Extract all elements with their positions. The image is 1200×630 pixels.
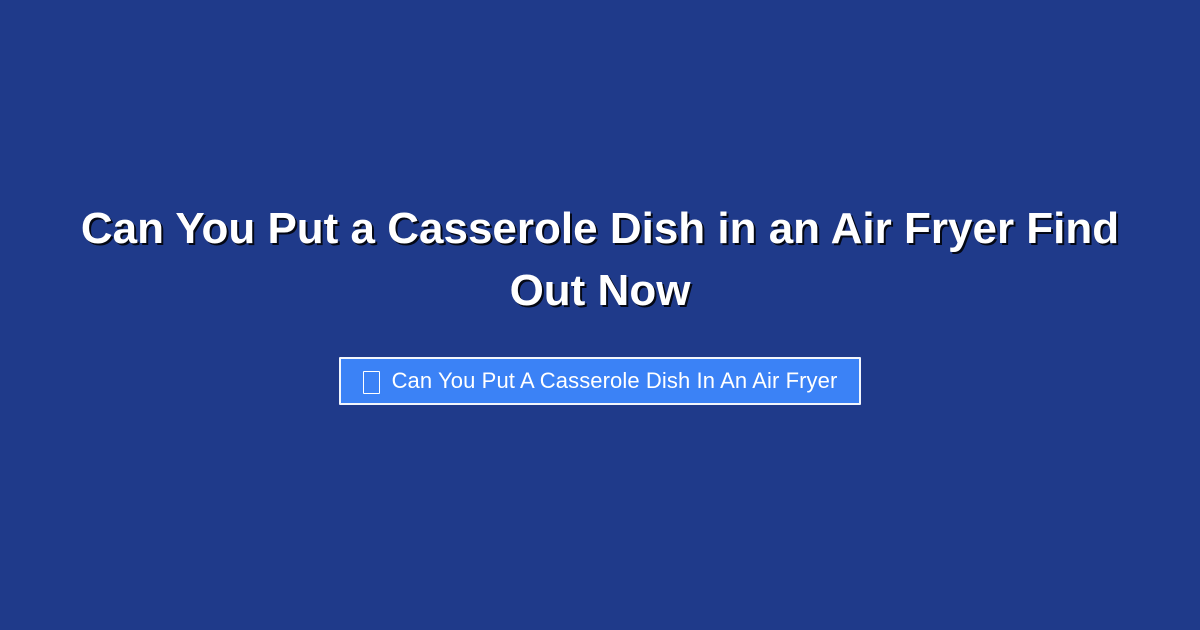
headline-block: Can You Put a Casserole Dish in an Air F…: [0, 198, 1200, 322]
share-card: Can You Put a Casserole Dish in an Air F…: [0, 0, 1200, 630]
cta-container: Can You Put A Casserole Dish In An Air F…: [0, 357, 1200, 405]
page-title: Can You Put a Casserole Dish in an Air F…: [56, 198, 1144, 322]
missing-glyph-box-icon: [363, 371, 380, 394]
cta-button-label: Can You Put A Casserole Dish In An Air F…: [392, 370, 838, 392]
cta-button[interactable]: Can You Put A Casserole Dish In An Air F…: [339, 357, 862, 405]
